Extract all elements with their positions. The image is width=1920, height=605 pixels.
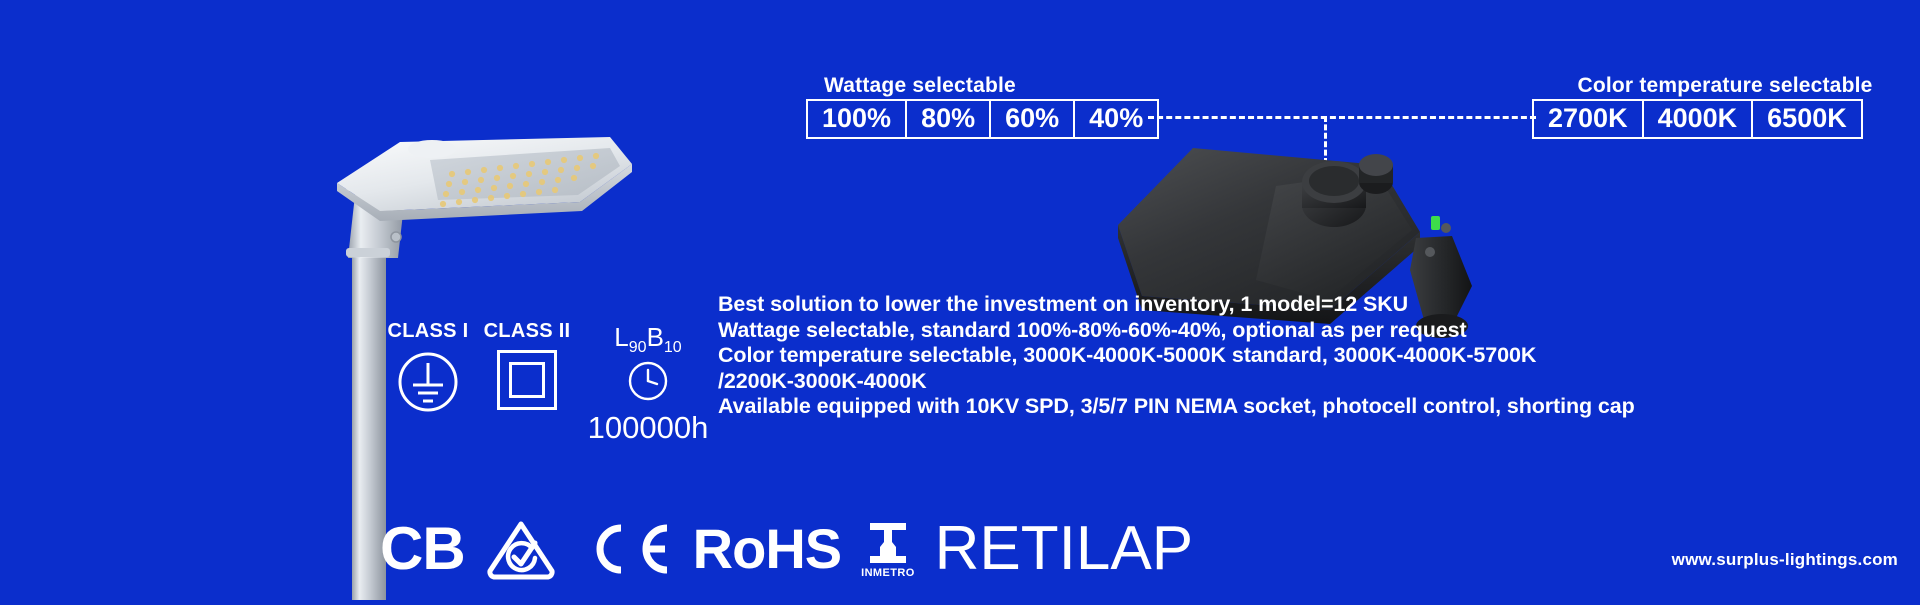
- lifetime-hours: 100000h: [578, 410, 718, 446]
- leader-line-horizontal: [1148, 116, 1536, 119]
- feature-list: Best solution to lower the investment on…: [718, 292, 1918, 420]
- class-2-label: CLASS II: [472, 320, 582, 343]
- cb-certification-logo: CB: [380, 519, 465, 579]
- feature-line-3: Color temperature selectable, 3000K-4000…: [718, 343, 1918, 369]
- wattage-option-60[interactable]: 60%: [991, 101, 1075, 137]
- poster-canvas: Wattage selectable 100% 80% 60% 40% Colo…: [0, 0, 1920, 600]
- feature-line-4: /2200K-3000K-4000K: [718, 369, 1918, 395]
- retilap-certification-logo: RETILAP: [935, 518, 1193, 580]
- l90b10-label: L90B10: [578, 322, 718, 357]
- clock-icon: [626, 359, 670, 403]
- inmetro-label: INMETRO: [861, 567, 915, 579]
- l90b10-b: B: [647, 322, 664, 352]
- class-1-symbol: CLASS I: [378, 320, 478, 419]
- website-url[interactable]: www.surplus-lightings.com: [1672, 550, 1898, 570]
- lifetime-symbol: L90B10 100000h: [578, 322, 718, 446]
- l90b10-sub-90: 90: [629, 339, 647, 356]
- inmetro-icon: [866, 520, 910, 566]
- rohs-certification-logo: RoHS: [693, 521, 841, 577]
- wattage-option-100[interactable]: 100%: [808, 101, 907, 137]
- wattage-option-80[interactable]: 80%: [907, 101, 991, 137]
- double-insulation-inner-square: [509, 362, 545, 398]
- cct-option-6500k[interactable]: 6500K: [1753, 101, 1861, 137]
- class-2-symbol: CLASS II: [472, 320, 582, 410]
- cct-option-row[interactable]: 2700K 4000K 6500K: [1532, 99, 1863, 139]
- ce-certification-logo: [577, 520, 673, 578]
- class-1-label: CLASS I: [378, 320, 478, 343]
- l90b10-l: L: [614, 322, 628, 352]
- l90b10-sub-10: 10: [664, 339, 682, 356]
- cct-option-4000k[interactable]: 4000K: [1644, 101, 1754, 137]
- certification-strip: CB RoHS INMETRO RETILAP: [380, 513, 1193, 585]
- cct-option-2700k[interactable]: 2700K: [1534, 101, 1644, 137]
- feature-line-2: Wattage selectable, standard 100%-80%-60…: [718, 318, 1918, 344]
- feature-line-1: Best solution to lower the investment on…: [718, 292, 1918, 318]
- wattage-selectable-title: Wattage selectable: [790, 74, 1050, 98]
- inmetro-certification-logo: INMETRO: [861, 520, 915, 579]
- rcm-certification-icon: [485, 518, 557, 580]
- cct-selectable-title: Color temperature selectable: [1530, 74, 1920, 98]
- double-insulation-icon: [497, 350, 557, 410]
- feature-line-5: Available equipped with 10KV SPD, 3/5/7 …: [718, 394, 1918, 420]
- earth-ground-icon: [396, 350, 460, 414]
